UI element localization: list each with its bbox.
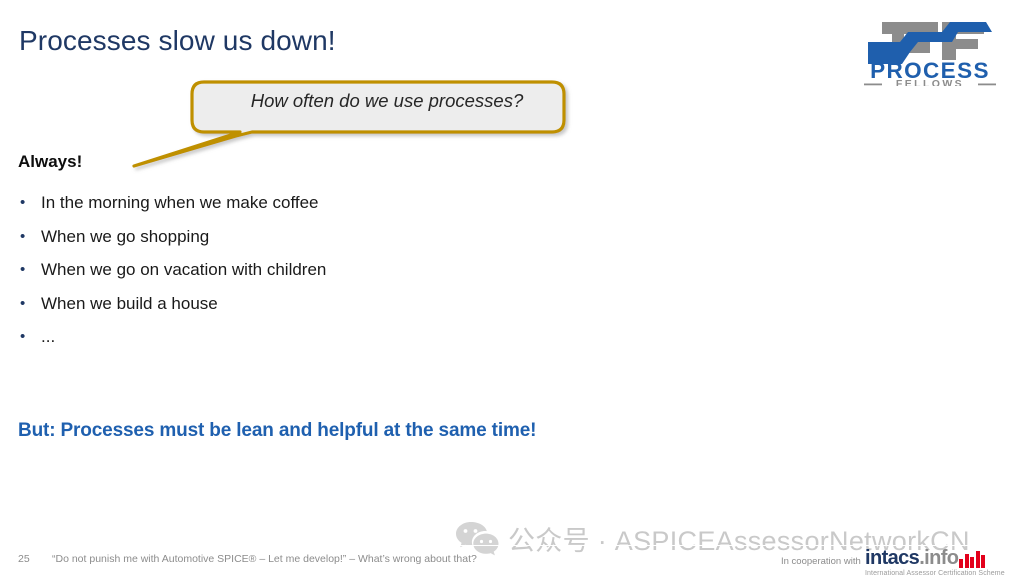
list-item-label: When we build a house bbox=[41, 294, 218, 313]
bullet-dot-icon: • bbox=[20, 320, 25, 354]
speech-bubble-text: How often do we use processes? bbox=[212, 90, 562, 112]
intacs-bar bbox=[959, 559, 963, 568]
list-item-label: In the morning when we make coffee bbox=[41, 193, 319, 212]
footer-divider bbox=[18, 545, 1006, 546]
process-fellows-logo: PROCESS FELLOWS bbox=[846, 8, 1014, 86]
list-item: • When we go on vacation with children bbox=[18, 253, 638, 287]
list-item: • When we go shopping bbox=[18, 220, 638, 254]
bullet-dot-icon: • bbox=[20, 186, 25, 220]
list-item: • ... bbox=[18, 320, 638, 354]
intacs-wordmark: intacs .info bbox=[865, 548, 1017, 568]
footer-deck-title: “Do not punish me with Automotive SPICE®… bbox=[52, 553, 477, 565]
bullet-dot-icon: • bbox=[20, 220, 25, 254]
list-item: • In the morning when we make coffee bbox=[18, 186, 638, 220]
cooperation-label: In cooperation with bbox=[781, 556, 861, 567]
list-item: • When we build a house bbox=[18, 287, 638, 321]
page-title: Processes slow us down! bbox=[19, 24, 336, 58]
wechat-icon bbox=[455, 520, 499, 556]
intacs-suffix: .info bbox=[919, 548, 958, 568]
intacs-bar bbox=[976, 551, 980, 568]
footer-page-number: 25 bbox=[18, 553, 30, 565]
conclusion-statement: But: Processes must be lean and helpful … bbox=[18, 420, 536, 442]
slide-canvas: Processes slow us down! PROCESS FELLOWS bbox=[0, 0, 1024, 584]
speech-bubble: How often do we use processes? bbox=[100, 66, 580, 176]
list-item-label: When we go shopping bbox=[41, 227, 209, 246]
intacs-bar bbox=[970, 557, 974, 568]
always-heading: Always! bbox=[18, 152, 82, 172]
list-item-label: ... bbox=[41, 327, 55, 346]
intacs-logo: intacs .info International Assessor Cert… bbox=[865, 548, 1017, 578]
intacs-tagline: International Assessor Certification Sch… bbox=[865, 570, 1017, 577]
bullet-dot-icon: • bbox=[20, 287, 25, 321]
intacs-bar bbox=[965, 554, 969, 568]
intacs-name: intacs bbox=[865, 548, 919, 568]
bullet-list: • In the morning when we make coffee • W… bbox=[18, 186, 638, 354]
intacs-bars-icon bbox=[959, 550, 985, 568]
bullet-dot-icon: • bbox=[20, 253, 25, 287]
svg-text:FELLOWS: FELLOWS bbox=[896, 78, 964, 86]
list-item-label: When we go on vacation with children bbox=[41, 260, 326, 279]
intacs-bar bbox=[981, 555, 985, 568]
